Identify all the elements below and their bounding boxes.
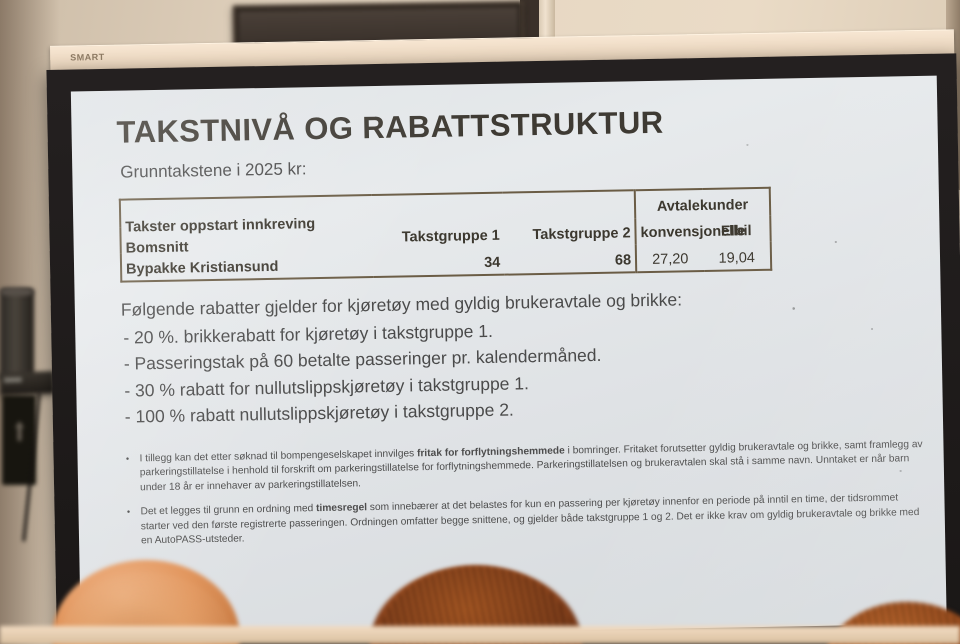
col-header-takstgruppe-2: Takstgruppe 2 bbox=[504, 218, 636, 247]
conference-speaker-icon bbox=[0, 371, 54, 395]
value-konvensjonelle: 27,20 bbox=[636, 243, 704, 272]
value-takstgruppe-2: 68 bbox=[504, 244, 636, 274]
footnote-0-part1: I tillegg kan det etter søknad til bompe… bbox=[139, 448, 417, 464]
display-bezel: TAKSTNIVÅ OG RABATTSTRUKTUR Grunntaksten… bbox=[46, 53, 960, 644]
footnote-1-bold: timesregel bbox=[316, 503, 367, 515]
footnote-1-body: Det et legges til grunn en ordning med t… bbox=[140, 491, 925, 549]
presentation-slide: TAKSTNIVÅ OG RABATTSTRUKTUR Grunntaksten… bbox=[71, 76, 947, 640]
value-elbil: 19,04 bbox=[703, 242, 771, 271]
value-takstgruppe-1: 34 bbox=[373, 247, 504, 277]
smart-board: SMART TAKSTNIVÅ OG RABATTSTRUKTUR Grunnt… bbox=[46, 29, 960, 644]
table-row-labels: Takster oppstart innkreving Bomsnitt Byp… bbox=[120, 195, 374, 282]
footnote-list: • I tillegg kan det etter søknad til bom… bbox=[123, 438, 925, 560]
footnote-1-part2: som innebærer at det belastes for kun en… bbox=[141, 493, 920, 547]
spacer-cell-1 bbox=[372, 193, 503, 223]
col-header-konvensjonelle: konvensjonelle bbox=[635, 217, 703, 245]
photo-of-meeting-room-screen: SMART TAKSTNIVÅ OG RABATTSTRUKTUR Grunnt… bbox=[0, 0, 960, 644]
cylinder-speaker-icon bbox=[0, 288, 34, 380]
slide-title: TAKSTNIVÅ OG RABATTSTRUKTUR bbox=[116, 105, 664, 151]
list-item: • Det et legges til grunn en ordning med… bbox=[124, 491, 925, 549]
spacer-cell-2 bbox=[503, 190, 635, 220]
tariff-table: Takster oppstart innkreving Bomsnitt Byp… bbox=[119, 187, 772, 283]
row-label-2: Bypakke Kristiansund bbox=[126, 255, 370, 280]
bullet-icon: • bbox=[124, 506, 133, 550]
list-item: • I tillegg kan det etter søknad til bom… bbox=[123, 438, 924, 496]
footnote-0-bold: fritak for forflytningshemmede bbox=[417, 446, 565, 460]
foreground-table-edge bbox=[0, 626, 960, 644]
bullet-icon: • bbox=[123, 453, 132, 497]
cylinder-speaker-top bbox=[0, 288, 34, 296]
col-header-takstgruppe-1: Takstgruppe 1 bbox=[373, 220, 504, 249]
tariff-table-wrapper: Takster oppstart innkreving Bomsnitt Byp… bbox=[119, 187, 772, 283]
footnote-1-part1: Det et legges til grunn en ordning med bbox=[140, 504, 316, 518]
discount-list: Følgende rabatter gjelder for kjøretøy m… bbox=[121, 283, 883, 431]
group-header-avtalekunder: Avtalekunder bbox=[635, 188, 770, 218]
speaker-brand-label bbox=[4, 377, 22, 383]
footnote-0-body: I tillegg kan det etter søknad til bompe… bbox=[139, 438, 924, 496]
slide-subtitle: Grunntakstene i 2025 kr: bbox=[120, 159, 307, 182]
smart-brand-logo: SMART bbox=[70, 52, 105, 63]
projected-screen[interactable]: TAKSTNIVÅ OG RABATTSTRUKTUR Grunntaksten… bbox=[71, 76, 947, 640]
